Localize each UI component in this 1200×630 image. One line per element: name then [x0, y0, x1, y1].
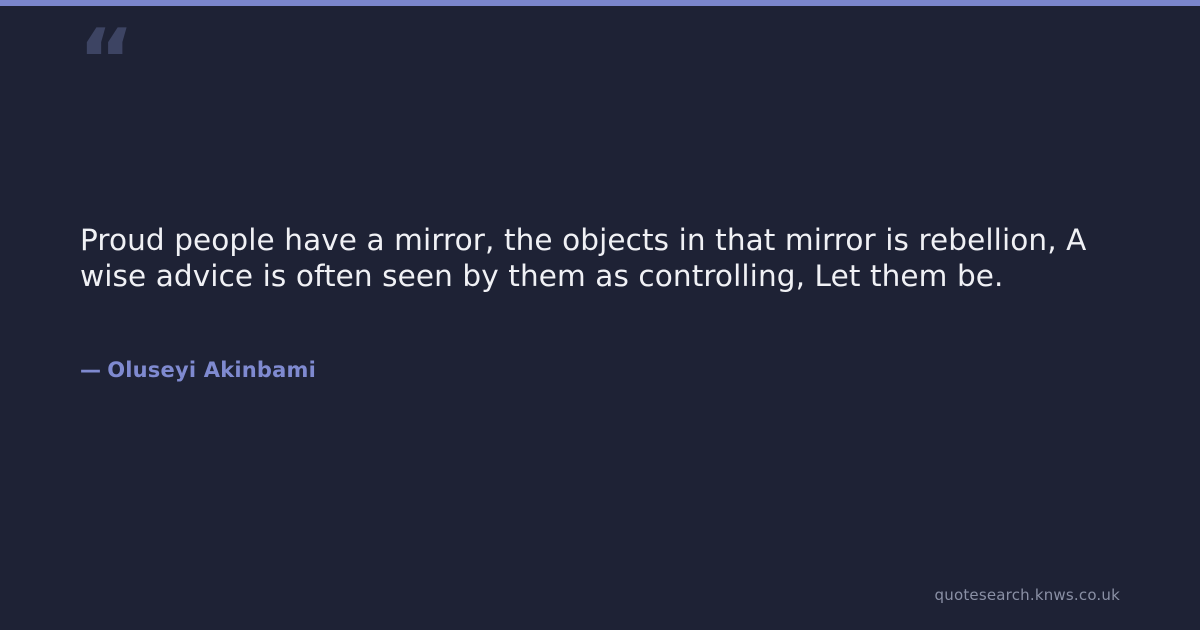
quote-text: Proud people have a mirror, the objects …	[80, 222, 1125, 294]
quote-card: “ Proud people have a mirror, the object…	[0, 0, 1200, 630]
quote-body: Proud people have a mirror, the objects …	[80, 222, 1125, 294]
site-watermark: quotesearch.knws.co.uk	[935, 586, 1120, 604]
em-dash: —	[80, 358, 101, 382]
open-quote-icon: “	[78, 18, 133, 104]
author-name: Oluseyi Akinbami	[107, 358, 316, 382]
top-accent-bar	[0, 0, 1200, 6]
quote-attribution: —Oluseyi Akinbami	[80, 356, 316, 384]
